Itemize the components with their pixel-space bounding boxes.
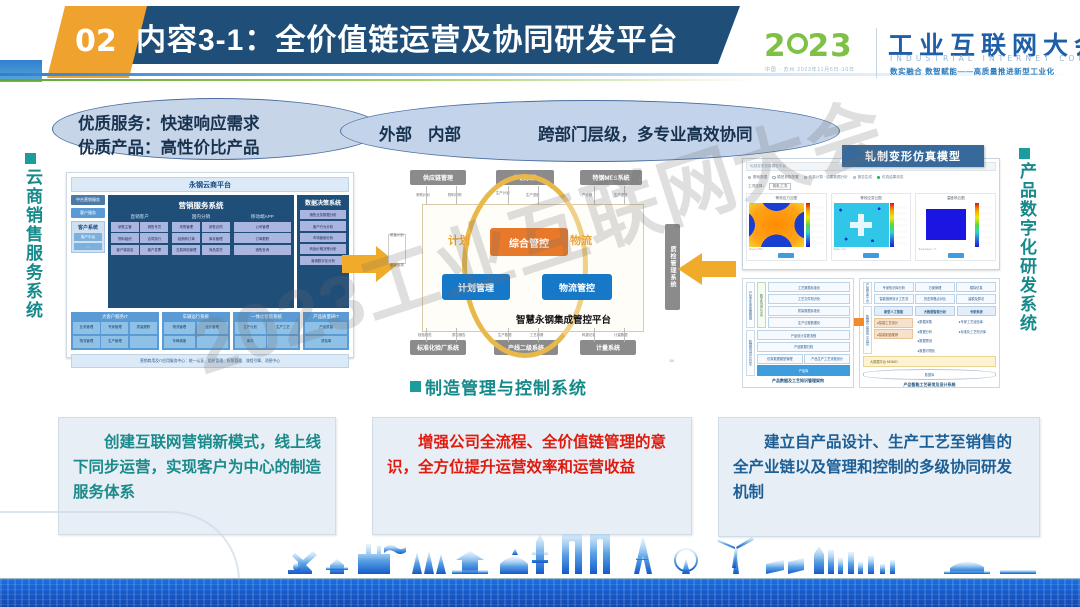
condition-filter[interactable]: 工况选择： 粗轧工况 [746,182,996,193]
connector-label: 生产进度 [614,192,628,197]
box-metering-system: 计量系统 [580,340,636,355]
header-section-number-badge: 02 [47,6,147,78]
card-footer-unit: Temperature / ℃ [918,247,993,251]
vertical-label-plm: 产品全生命周期管理 [746,282,755,328]
tile: 业务管理 [73,322,100,334]
tab-report-generation[interactable]: 报告生成 [853,175,872,180]
section-new-ai: 新型人工智能 ●智能工艺设计 ●智能制造推荐 [874,306,913,355]
tile: 方案管理 [915,282,955,292]
group-customer-system: 客户系统 客户中台 ... [71,221,105,253]
group-tiles: 业务管理 专家管理 质量跟踪 物流管理 生产管理 [73,322,157,348]
tile: 公司管理 [234,222,291,232]
tile: 合同执行 [140,233,168,243]
fea-contour-image-stress [749,203,804,247]
decorative-ring-icon [462,174,588,358]
footer-decoration [0,535,1080,607]
section-item: ●智能制造推荐 [874,329,913,339]
section-header: 新型人工智能 [874,306,913,316]
platform-name-label: 智慧永钢集成管控平台 [516,312,611,326]
card-caption: 产品智能工艺研发及设计系统 [863,380,996,388]
group-header: 大客户服务IT [73,314,157,322]
bullet-square-right [1019,148,1030,159]
row: 产品数据归档 [757,342,850,352]
group-key-account-it: 大客户服务IT 业务管理 专家管理 质量跟踪 物流管理 生产管理 [71,312,159,350]
tab-simulation-analysis[interactable]: 仿真计算 · 结果数据分析 [804,175,848,180]
tile: 客户发票 [140,245,168,255]
tile: 模拟仿真 [956,282,996,292]
box-integrated-control: 综合管控 [490,228,568,256]
skyline-illustration-icon [0,534,1080,578]
section-header: 大数据智能分析 [915,306,954,316]
connector-line [508,186,509,204]
box-logistics-control: 物流管控 [542,274,612,300]
row: 仿真数据模型管理 [757,354,803,364]
label-logistics: 物流 [570,232,592,248]
tile: 营销数字化分析 [300,256,346,265]
ai-sections: 新型人工智能 ●智能工艺设计 ●智能制造推荐 大数据智能分析 ●数据采集 ●数据… [874,306,996,355]
subgroup-mobile-app-header: 移动端APP [234,214,291,222]
conference-logo: 223 中国 · 苏州 2023年11月6日-10日 工业互联网大会 INDUS… [760,26,1072,88]
subgroup-domestic-distribution-tiles: 采购管理 销售合同 经销商订单 库存管理 交易风险管理 商品发货 [172,222,229,255]
tab-result-browse[interactable]: 仿真结果浏览 [877,175,903,180]
card-product-data-knowledge[interactable]: 产品全生命周期管理 数字化设计平台 工艺数据标准化 工艺文件知识化 质量数据标准… [742,278,854,388]
card-body-platform: 产品研发平台 专家知识库分析 方案管理 模拟仿真 智能推荐设计工艺流 历史规格点… [863,282,996,304]
radio-icon [804,176,807,179]
simulation-tab-row[interactable]: 基础数据 模型参数配置 仿真计算 · 结果数据分析 报告生成 仿真结果浏览 [746,171,996,182]
section-header: 专家系统 [957,306,996,316]
connector-label: 工艺参数 [530,332,544,337]
header-divider-green [0,79,760,81]
logo-divider [876,28,877,78]
tab-label: 报告生成 [858,175,872,180]
tile: 运价管理 [197,322,228,334]
group-integrated-intelligence-system: 一体化智能系统 生产计划 生产工艺 库存 [233,312,301,350]
connector-arrow-icon [854,318,864,326]
subgroup-direct-sales-header: 直销客户 [111,214,168,222]
card-body [918,203,993,247]
group-header: 车辆运行系统 [164,314,228,322]
data-decision-system-header: 数据决策系统 [300,198,346,208]
rows-bottom: 产品设计变更流程 产品数据归档 仿真数据模型管理 产品生产工艺流程设计 产品库 [757,330,850,376]
section-item: ●数据可视化 [915,346,954,354]
tile: 采购管理 [172,222,200,232]
cloud-platform-title: 永钢云商平台 [71,177,349,192]
tile: 专家管理 [101,322,128,334]
row-bigdata-platform: 大数据平台 MDM/D [863,356,996,366]
tile: 市场营销分析 [300,233,346,242]
header-section-number: 02 [75,24,117,59]
page-title: 内容3-1：全价值链运营及协同研发平台 [136,15,678,59]
subgroup-mobile-app: 移动端APP 公司管理 订单跟踪 销售查询 [234,214,291,305]
row-product-library: 产品库 [757,365,850,375]
section-item: ●数据分析 [915,327,954,335]
rows-top: 工艺数据标准化 工艺文件知识化 质量数据标准化 生产过程数据化 [768,282,850,328]
row: 质量数据标准化 [768,306,850,316]
side-label-product-rnd-system: 产品数字化研发系统 [1018,162,1035,402]
screenshot-cloud-commerce-platform[interactable]: 永钢云商平台 中台营销服务 客户服务 客户系统 客户中台 ... 营销服务系统 … [66,172,354,358]
tile: 物料组织 [111,233,139,243]
group-header: 一体化智能系统 [235,314,299,322]
tile: 交易风险管理 [172,245,200,255]
card-body-bottom: 数据驱动设计开发 产品设计变更流程 产品数据归档 仿真数据模型管理 产品生产工艺… [746,330,850,376]
cloud-platform-left-column: 中台营销服务 客户服务 客户系统 客户中台 ... [71,195,105,308]
center-label-text: 制造管理与控制系统 [425,374,587,399]
color-legend-icon [890,203,908,247]
callout-external-label: 外部 [379,121,412,145]
card-temperature-contour[interactable]: 温度场云图 Temperature / ℃ [915,193,996,261]
tile: 物流管理 [73,336,100,348]
connector-label: 质检报告 [452,332,466,337]
logo-year: 223 [764,28,872,64]
box-special-steel-mes-system: 特钢MES系统 [580,170,642,185]
connector-label: 采购计划 [416,192,430,197]
card-strain-contour[interactable]: 等效应变云图 Strain / mm [831,193,912,261]
tab-basic-data[interactable]: 基础数据 [748,175,767,180]
card-caption: 产品数据及工艺知识管理架构 [746,376,850,384]
section-item: ●智能工艺设计 [874,318,913,328]
card-body [834,203,909,247]
card-footer-unit: Strain / mm [834,247,909,251]
chip-customer-more: ... [74,243,102,250]
conclusion-box-manufacturing: 增强公司全流程、全价值链管理的意识，全方位提升运营效率和运营收益 [372,417,692,535]
tile: 客户行为分析 [300,221,346,230]
connector-label: 产计划 [582,192,592,197]
tile: 销售业务数据分析 [300,210,346,219]
radio-icon [772,176,775,179]
radio-icon [853,176,856,179]
subgroup-mobile-app-tiles: 公司管理 订单跟踪 销售查询 [234,222,291,255]
tile: 质量跟踪 [130,322,157,334]
tab-label: 仿真结果浏览 [882,175,904,180]
connector-line [426,186,427,204]
vertical-label-data-driven-design: 数据驱动设计开发 [746,330,755,376]
connector-label: 计量数据 [614,332,628,337]
card-body-top: 产品全生命周期管理 数字化设计平台 工艺数据标准化 工艺文件知识化 质量数据标准… [746,282,850,328]
tile: 历史规格点对比 [915,294,955,304]
logo-year-prefix: 2 [764,28,787,64]
vertical-label-layers: 数据层 应用层 平台层 [863,306,872,355]
row: 工艺数据标准化 [768,282,850,292]
callout-quality-product: 优质产品：高性价比产品 [78,134,260,158]
footer-water-band [0,579,1080,607]
tile: 销售合同 [202,222,230,232]
logo-conference-name-english: INDUSTRIAL INTERNET CONFERENCE [890,54,1080,63]
box-plan-management: 计划管理 [442,274,510,300]
tab-label: 模型参数配置 [777,175,799,180]
color-legend-icon [975,203,993,247]
tab-label: 基础数据 [753,175,767,180]
row: 产品设计变更流程 [757,330,850,340]
tile: 生产计划 [235,322,266,334]
connector-line [538,186,539,204]
tab-label: 仿真计算 · 结果数据分析 [809,175,848,180]
callout-cross-department: 跨部门层级，多专业高效协同 [538,121,753,145]
logo-year-suffix: 23 [808,28,853,64]
radio-icon-selected [877,176,880,179]
callout-quality-service: 优质服务：快速响应需求 [78,110,260,134]
connector-line [594,186,595,204]
card-stress-contour[interactable]: 等效应力云图 Stress / MPa [746,193,827,261]
row: 生产过程数据化 [768,317,850,327]
tile: 客户端信息 [111,245,139,255]
side-connector-label: 质量追溯 [390,262,404,267]
label-rolling-deformation-simulation-model: 轧制变形仿真模型 [842,145,984,167]
card-footer-unit: Stress / MPa [749,247,824,251]
platform-tiles: 专家知识库分析 方案管理 模拟仿真 智能推荐设计工艺流 历史规格点对比 建模及算… [874,282,996,304]
simulation-result-cards: 等效应力云图 Stress / MPa 等效应变云图 Strain / mm 温… [746,193,996,261]
vertical-label-platform-header: 产品研发平台 [863,282,872,304]
label-plan: 计划 [448,232,470,248]
group-tiles: 生产计划 生产工艺 库存 [235,322,299,348]
tile: 产品质量 [305,322,347,334]
screenshot-rolling-simulation-platform[interactable]: 轧制变形仿真模型平台 基础数据 模型参数配置 仿真计算 · 结果数据分析 报告生… [742,158,1000,270]
side-connector-label: 质量计划 [390,232,404,237]
tile: 智能推荐设计工艺流 [874,294,914,304]
screenshot-mes-control-platform[interactable]: 供应链管理 产销系统 特钢MES系统 标准化验厂系统 产线二级系统 计量系统 质… [404,166,676,364]
connector-line [456,186,457,204]
tile: 商品价格决策分析 [300,244,346,253]
group-product-quality-it: 产品质量研IT 产品质量 质检单 [303,312,349,350]
logo-slogan: 数实融合 数智赋能——高质量推进新型工业化 [890,66,1055,77]
conclusion-text: 建立自产品设计、生产工艺至销售的全产业链以及管理和控制的多级协同研发机制 [733,430,1025,505]
connector-line [426,328,427,342]
section-item: ●标准化工艺知识库 [957,327,996,335]
section-expert-system: 专家系统 ●专家工艺经验库 ●标准化工艺知识库 [957,306,996,355]
platform-tiles-row1: 专家知识库分析 方案管理 模拟仿真 [874,282,996,292]
tile: 库存管理 [202,233,230,243]
platform-tiles-row2: 智能推荐设计工艺流 历史规格点对比 建模及算法 [874,294,996,304]
tile [130,336,157,348]
color-legend-icon [806,203,824,247]
cloud-platform-body: 中台营销服务 客户服务 客户系统 客户中台 ... 营销服务系统 直销客户 销售… [71,195,349,308]
card-body [749,203,824,247]
database-cylinder: 数据库 [863,369,996,380]
group-marketing-service-system: 营销服务系统 直销客户 销售主管 销售专员 物料组织 合同执行 客户端信息 客户… [108,195,294,308]
tile: 经销商订单 [172,233,200,243]
subgroup-domestic-distribution-header: 国内分销 [172,214,229,222]
tile: 销售专员 [140,222,168,232]
conclusion-text: 增强公司全流程、全价值链管理的意识，全方位提升运营效率和运营收益 [387,430,677,480]
logo-location-date: 中国 · 苏州 2023年11月6日-10日 [765,66,869,73]
section-item: ●专家工艺经验库 [957,318,996,326]
connector-line [594,328,595,342]
conclusion-box-rnd: 建立自产品设计、生产工艺至销售的全产业链以及管理和控制的多级协同研发机制 [718,417,1040,537]
connector-line [624,186,625,204]
connector-label: 物料采购 [448,192,462,197]
connector-line [508,328,509,342]
callout-internal-label: 内部 [428,121,461,145]
chip-customer-service: 客户服务 [71,208,105,218]
chip-customer-middle: 客户中台 [74,233,102,241]
tile: 建模及算法 [956,294,996,304]
group-header: 产品质量研IT [305,314,347,322]
tile [197,336,228,348]
group-vehicle-system: 车辆运行系统 物流管理 运价管理 车辆调度 [162,312,230,350]
marketing-subgroups: 直销客户 销售主管 销售专员 物料组织 合同执行 客户端信息 客户发票 国内分销… [111,214,291,305]
rows-grid: 仿真数据模型管理 产品生产工艺流程设计 [757,354,850,364]
section-item: ●数据预测 [915,337,954,345]
tile: 生产管理 [101,336,128,348]
center-section-label: 制造管理与控制系统 [410,374,587,399]
tile: 物流管理 [164,322,195,334]
subgroup-direct-sales: 直销客户 销售主管 销售专员 物料组织 合同执行 客户端信息 客户发票 [111,214,168,305]
vertical-label-digital-design: 数字化设计平台 [757,282,766,328]
tile: 库存 [235,336,266,348]
slide-page-number: 54 [670,358,674,363]
screenshot-product-rnd-architecture[interactable]: 产品全生命周期管理 数字化设计平台 工艺数据标准化 工艺文件知识化 质量数据标准… [742,278,1000,388]
tile: 商品发货 [202,245,230,255]
cloud-platform-bottom-groups: 大客户服务IT 业务管理 专家管理 质量跟踪 物流管理 生产管理 车辆运行系统 … [71,312,349,350]
tile: 车辆调度 [164,336,195,348]
group-customer-system-header: 客户系统 [74,224,102,231]
radio-icon [748,176,751,179]
header-title-bar: 02 内容3-1：全价值链运营及协同研发平台 [40,6,740,64]
chip-middle-platform-service: 中台营销服务 [71,195,105,205]
card-body-sections: 数据层 应用层 平台层 新型人工智能 ●智能工艺设计 ●智能制造推荐 大数据智能… [863,306,996,355]
bullet-square-center [410,381,421,392]
group-tiles: 物流管理 运价管理 车辆调度 [164,322,228,348]
tile: 订单跟踪 [234,233,291,243]
row: 产品生产工艺流程设计 [804,354,850,364]
fea-contour-image-temperature [918,203,973,247]
tab-model-params[interactable]: 模型参数配置 [772,175,798,180]
cloud-platform-footer-services: 营销商用及IT应用服务中心：统一认证、组织管理、权限管理、流程引擎、消息中心 [71,354,349,368]
connector-label: 检验规范 [418,332,432,337]
section-item: ●数据采集 [915,318,954,326]
group-tiles: 产品质量 质检单 [305,322,347,348]
conclusion-text: 创建互联网营销新模式，线上线下同步运营，实现客户为中心的制造服务体系 [73,430,321,505]
box-supply-chain-management: 供应链管理 [410,170,466,185]
filter-value[interactable]: 粗轧工况 [769,183,791,190]
tile: 销售主管 [111,222,139,232]
subgroup-domestic-distribution: 国内分销 采购管理 销售合同 经销商订单 库存管理 交易风险管理 商品发货 [172,214,229,305]
bullet-square-left [25,153,36,164]
connector-line [624,328,625,342]
box-side-connector-left [388,234,406,264]
connector-label: 生产数据 [498,332,512,337]
subgroup-direct-sales-tiles: 销售主管 销售专员 物料组织 合同执行 客户端信息 客户发票 [111,222,168,255]
box-standardized-inspection-system: 标准化验厂系统 [410,340,466,355]
tile: 专家知识库分析 [874,282,914,292]
tile [267,336,298,348]
arrow-left-icon [678,252,736,286]
view-button[interactable] [948,253,964,258]
logo-ring-icon [787,33,808,54]
card-intelligent-process-rnd[interactable]: 产品研发平台 专家知识库分析 方案管理 模拟仿真 智能推荐设计工艺流 历史规格点… [859,278,1000,388]
filter-label: 工况选择： [748,184,766,188]
fea-contour-image-strain [834,203,889,247]
tile: 质检单 [305,336,347,348]
side-label-cloud-sales-system: 云商销售服务系统 [24,168,41,398]
row: 工艺文件知识化 [768,294,850,304]
marketing-service-system-header: 营销服务系统 [111,198,291,214]
view-button[interactable] [863,253,879,258]
connector-line [456,328,457,342]
tile: 生产工艺 [267,322,298,334]
section-bigdata-analysis: 大数据智能分析 ●数据采集 ●数据分析 ●数据预测 ●数据可视化 [915,306,954,355]
connector-line [538,328,539,342]
tile: 销售查询 [234,245,291,255]
view-button[interactable] [778,253,794,258]
